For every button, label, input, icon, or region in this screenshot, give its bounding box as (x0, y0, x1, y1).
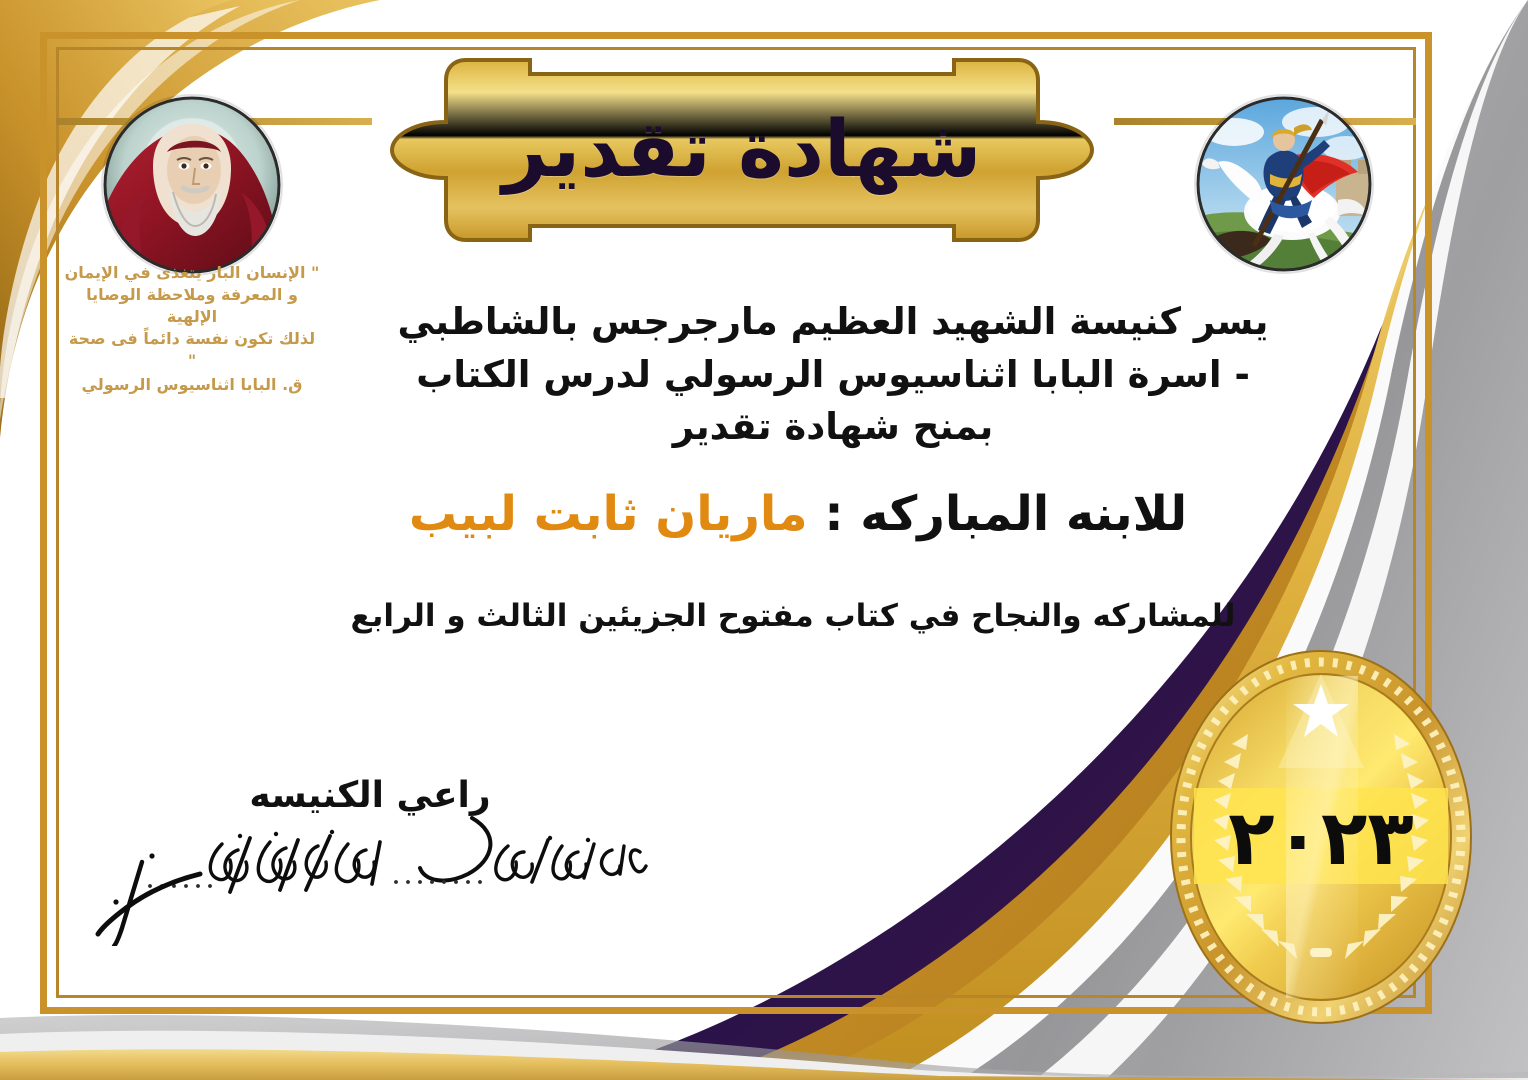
saint-quote-block: " الإنسان البار يتغذى في الإيمان و المعر… (62, 262, 322, 396)
gold-award-seal: ٢٠٢٣ (1168, 648, 1474, 1026)
recipient-line: للابنه المباركه : ماريان ثابت لبيب (268, 486, 1328, 544)
certificate-body-text: يسر كنيسة الشهيد العظيم مارجرجس بالشاطبي… (298, 296, 1368, 454)
achievement-text: للمشاركه والنجاح في كتاب مفتوح الجزيئين … (258, 598, 1328, 634)
quote-line-1: " الإنسان البار يتغذى في الإيمان (62, 262, 322, 284)
quote-attribution: ق. البابا اثناسيوس الرسولي (62, 374, 322, 396)
body-line-3: بمنح شهادة تقدير (298, 401, 1368, 454)
saint-george-icon (1196, 96, 1372, 272)
saint-athanasius-portrait (103, 96, 281, 274)
saint-athanasius-icon (103, 96, 281, 274)
title-banner: شهادة تقدير (370, 52, 1114, 248)
recipient-label: للابنه المباركه : (824, 486, 1187, 542)
quote-line-3: لذلك تكون نفسة دائماً فى صحة " (62, 328, 322, 372)
body-line-2: - اسرة البابا اثناسيوس الرسولي لدرس الكت… (298, 349, 1368, 402)
signature-title: راعي الكنيسه (80, 778, 660, 814)
banner-title-text: شهادة تقدير (370, 52, 1114, 248)
saint-george-on-horseback-icon (1196, 96, 1372, 272)
quote-line-2: و المعرفة وملاحظة الوصايا الإلهية (62, 284, 322, 328)
recipient-name: ماريان ثابت لبيب (409, 486, 808, 542)
certificate-page: شهادة تقدير (0, 0, 1528, 1080)
body-line-1: يسر كنيسة الشهيد العظيم مارجرجس بالشاطبي (298, 296, 1368, 349)
seal-year-text: ٢٠٢٣ (1168, 648, 1474, 1026)
signature-block: راعي الكنيسه (80, 778, 660, 946)
pastor-handwritten-signature (80, 816, 660, 946)
